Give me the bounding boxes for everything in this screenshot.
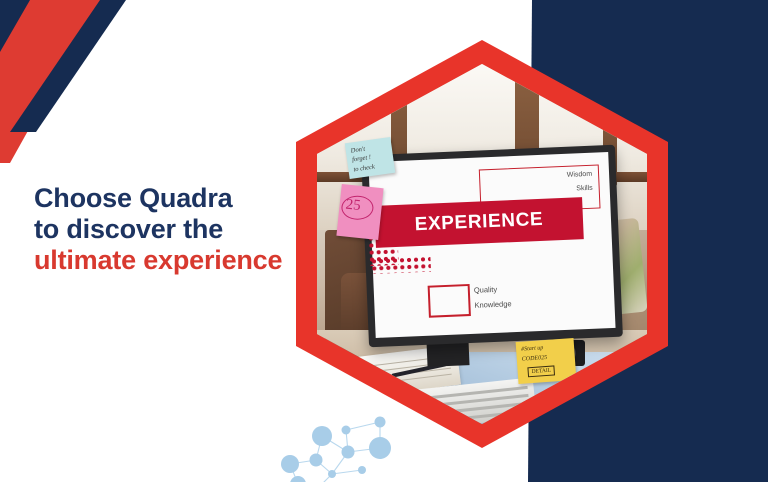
empty-outline-box: [428, 284, 471, 318]
screen-wisdom-label: Wisdom: [567, 171, 593, 179]
experience-label: EXPERIENCE: [414, 209, 543, 236]
headline-block: Choose Quadra to discover the ultimate e…: [34, 183, 334, 276]
blue-note-line-3: to check: [353, 163, 375, 173]
screen-skills-label: Skills: [576, 185, 593, 193]
quality-knowledge-labels: Quality Knowledge: [474, 284, 512, 316]
blue-note-line-2: forget !: [352, 154, 372, 164]
headline-line-2: to discover the: [34, 214, 334, 245]
screen-quality-label: Quality: [474, 284, 511, 295]
yellow-note-line-2: CODE025: [522, 355, 548, 363]
yellow-note-line-1: #Start up: [521, 345, 544, 353]
sticky-note-yellow: #Start up CODE025 DETAIL: [516, 338, 577, 384]
blue-note-line-1: Don't: [350, 146, 365, 155]
desktop-monitor-icon: Wisdom Skills EXPERIENCE Quality Knowled…: [361, 145, 623, 347]
yellow-note-line-3: DETAIL: [527, 365, 555, 377]
headline-line-1: Choose Quadra: [34, 183, 334, 214]
headline-line-3: ultimate experience: [34, 245, 334, 276]
sticky-note-blue: Don't forget ! to check: [345, 137, 396, 179]
halftone-dots-decoration: [370, 256, 431, 274]
pink-note-number: 25: [345, 197, 362, 215]
screen-knowledge-label: Knowledge: [474, 299, 511, 310]
experience-banner: EXPERIENCE: [374, 197, 584, 248]
hexagon-image-frame: Wisdom Skills EXPERIENCE Quality Knowled…: [296, 40, 668, 448]
sticky-note-pink: 25: [336, 184, 383, 240]
monitor-screen: Wisdom Skills EXPERIENCE Quality Knowled…: [368, 152, 615, 338]
promo-banner: Choose Quadra to discover the ultimate e…: [0, 0, 768, 482]
